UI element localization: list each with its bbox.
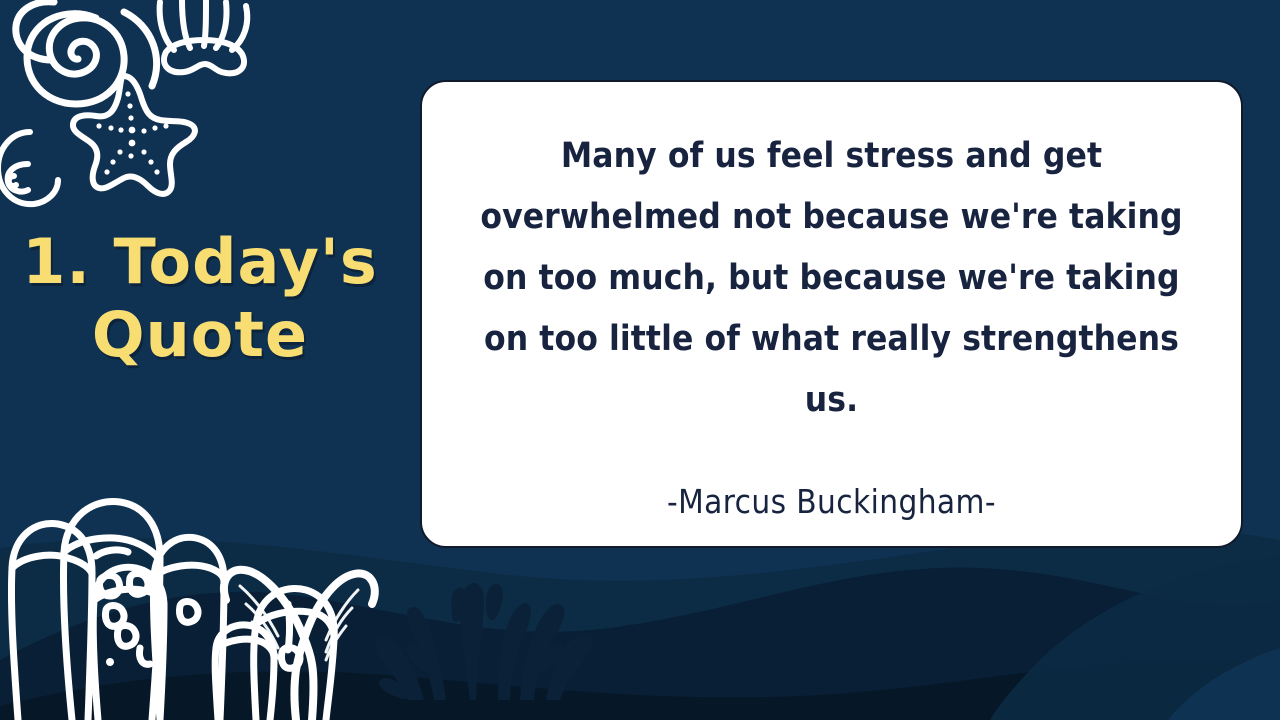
slide-canvas: 1. Today's Quote Many of us feel stress … [0,0,1280,720]
quote-card: Many of us feel stress and get overwhelm… [420,80,1243,548]
quote-author: -Marcus Buckingham- [667,482,996,521]
scallop-shell-icon [160,0,248,73]
starfish-icon [73,76,195,194]
page-title: 1. Today's Quote [0,225,400,371]
round-shell-icon [0,132,58,204]
tube-coral-icon [11,501,334,720]
quote-text: Many of us feel stress and get overwhelm… [468,126,1195,430]
